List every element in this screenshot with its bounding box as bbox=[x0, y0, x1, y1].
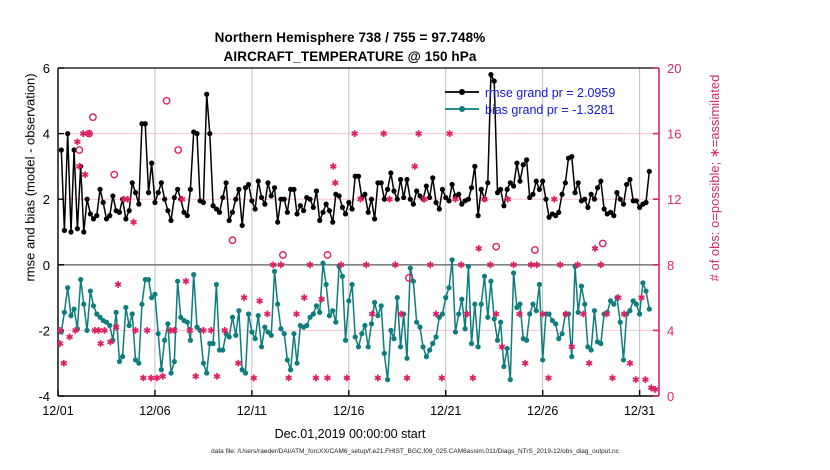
data-point bbox=[127, 323, 132, 328]
data-point bbox=[414, 320, 419, 325]
data-point bbox=[117, 359, 122, 364]
data-point bbox=[440, 187, 445, 192]
chart-page: Northern Hemisphere 738 / 755 = 97.748% … bbox=[0, 0, 830, 470]
data-point bbox=[127, 208, 132, 213]
data-point bbox=[311, 205, 316, 210]
data-point bbox=[282, 197, 287, 202]
legend-marker-0 bbox=[459, 89, 465, 95]
data-point bbox=[75, 226, 80, 231]
y-tick-label-left: 2 bbox=[43, 192, 50, 207]
data-point bbox=[317, 310, 322, 315]
data-point bbox=[466, 197, 471, 202]
data-point bbox=[618, 320, 623, 325]
data-point bbox=[495, 338, 500, 343]
data-point bbox=[343, 211, 348, 216]
data-point bbox=[456, 311, 461, 316]
data-point bbox=[165, 321, 170, 326]
data-point bbox=[366, 344, 371, 349]
data-point bbox=[236, 187, 241, 192]
data-point bbox=[265, 180, 270, 185]
data-point bbox=[391, 336, 396, 341]
data-point bbox=[614, 190, 619, 195]
data-point bbox=[476, 344, 481, 349]
data-point bbox=[353, 334, 358, 339]
data-point bbox=[165, 208, 170, 213]
data-point bbox=[482, 274, 487, 279]
y-tick-label-right: 20 bbox=[667, 61, 681, 76]
y-tick-label-right: 4 bbox=[667, 323, 674, 338]
data-point bbox=[230, 315, 235, 320]
data-point bbox=[572, 190, 577, 195]
data-point bbox=[424, 354, 429, 359]
data-point bbox=[511, 183, 516, 188]
data-point bbox=[346, 298, 351, 303]
data-point bbox=[227, 334, 232, 339]
data-point bbox=[530, 192, 535, 197]
x-tick-label: 12/21 bbox=[430, 404, 461, 418]
data-point bbox=[350, 206, 355, 211]
data-point bbox=[424, 183, 429, 188]
data-point bbox=[498, 187, 503, 192]
data-point bbox=[220, 195, 225, 200]
data-point bbox=[411, 202, 416, 207]
data-point bbox=[133, 190, 138, 195]
data-point bbox=[488, 72, 493, 77]
data-point bbox=[175, 187, 180, 192]
y-tick-label-right: 8 bbox=[667, 258, 674, 273]
data-point bbox=[294, 361, 299, 366]
data-point bbox=[136, 361, 141, 366]
data-point bbox=[582, 302, 587, 307]
data-point bbox=[146, 190, 151, 195]
data-point bbox=[602, 206, 607, 211]
data-point bbox=[201, 361, 206, 366]
data-point bbox=[62, 310, 67, 315]
data-point bbox=[233, 197, 238, 202]
data-point bbox=[298, 203, 303, 208]
data-point bbox=[162, 197, 167, 202]
data-point bbox=[285, 357, 290, 362]
data-point bbox=[343, 338, 348, 343]
data-point bbox=[275, 220, 280, 225]
data-point bbox=[501, 203, 506, 208]
data-point bbox=[540, 179, 545, 184]
obs-assimilated-marker bbox=[627, 360, 633, 367]
data-point bbox=[459, 297, 464, 302]
data-point bbox=[443, 295, 448, 300]
data-point bbox=[333, 320, 338, 325]
data-point bbox=[589, 192, 594, 197]
data-point bbox=[97, 187, 102, 192]
obs-assimilated-marker bbox=[301, 294, 307, 301]
data-point bbox=[375, 313, 380, 318]
data-point bbox=[440, 311, 445, 316]
data-point bbox=[269, 333, 274, 338]
obs-possible-marker bbox=[406, 275, 412, 281]
data-point bbox=[476, 213, 481, 218]
plot-canvas: -4-2024604812162012/0112/0612/1112/1612/… bbox=[0, 0, 830, 470]
data-point bbox=[521, 162, 526, 167]
data-point bbox=[404, 177, 409, 182]
obs-assimilated-marker bbox=[67, 334, 73, 341]
data-point bbox=[230, 210, 235, 215]
data-point bbox=[408, 197, 413, 202]
obs-assimilated-marker bbox=[332, 179, 338, 186]
obs-possible-marker bbox=[229, 237, 235, 243]
data-point bbox=[340, 205, 345, 210]
data-point bbox=[253, 336, 258, 341]
data-point bbox=[143, 121, 148, 126]
y-tick-label-right: 12 bbox=[667, 192, 681, 207]
data-point bbox=[84, 328, 89, 333]
data-point bbox=[272, 185, 277, 190]
data-point bbox=[517, 179, 522, 184]
x-tick-label: 12/11 bbox=[237, 404, 267, 418]
legend-marker-1 bbox=[459, 106, 465, 112]
data-point bbox=[120, 354, 125, 359]
data-point bbox=[356, 344, 361, 349]
obs-assimilated-marker bbox=[74, 138, 80, 145]
data-point bbox=[537, 282, 542, 287]
data-point bbox=[627, 308, 632, 313]
obs-assimilated-marker bbox=[160, 373, 166, 380]
data-point bbox=[256, 313, 261, 318]
y-tick-label-left: -4 bbox=[38, 389, 50, 404]
data-point bbox=[123, 216, 128, 221]
data-point bbox=[168, 370, 173, 375]
data-point bbox=[223, 180, 228, 185]
data-point bbox=[162, 338, 167, 343]
obs-assimilated-marker bbox=[61, 360, 67, 367]
legend-label-0: rmse grand pr = 2.0959 bbox=[485, 86, 615, 100]
data-point bbox=[537, 187, 542, 192]
data-point bbox=[369, 321, 374, 326]
data-point bbox=[81, 229, 86, 234]
data-point bbox=[185, 213, 190, 218]
data-point bbox=[372, 216, 377, 221]
data-point bbox=[589, 347, 594, 352]
obs-assimilated-marker bbox=[592, 245, 598, 252]
data-point bbox=[294, 211, 299, 216]
obs-assimilated-marker bbox=[183, 278, 189, 285]
obs-assimilated-marker bbox=[193, 373, 199, 380]
data-point bbox=[563, 180, 568, 185]
obs-possible-marker bbox=[76, 147, 82, 153]
data-point bbox=[417, 325, 422, 330]
data-point bbox=[395, 295, 400, 300]
data-point bbox=[246, 311, 251, 316]
x-tick-label: 12/31 bbox=[624, 404, 655, 418]
data-point bbox=[307, 197, 312, 202]
data-point bbox=[585, 205, 590, 210]
data-point bbox=[117, 210, 122, 215]
data-point bbox=[469, 185, 474, 190]
data-point bbox=[643, 288, 648, 293]
data-point bbox=[269, 193, 274, 198]
data-point bbox=[517, 302, 522, 307]
obs-assimilated-marker bbox=[375, 375, 381, 382]
data-point bbox=[472, 302, 477, 307]
data-point bbox=[156, 190, 161, 195]
data-point bbox=[582, 197, 587, 202]
data-point bbox=[249, 329, 254, 334]
data-point bbox=[256, 179, 261, 184]
data-point bbox=[479, 187, 484, 192]
obs-possible-marker bbox=[90, 114, 96, 120]
data-point bbox=[246, 182, 251, 187]
data-point bbox=[398, 344, 403, 349]
data-point bbox=[501, 364, 506, 369]
data-point bbox=[188, 338, 193, 343]
obs-assimilated-marker bbox=[499, 343, 505, 350]
data-point bbox=[556, 336, 561, 341]
data-point bbox=[621, 357, 626, 362]
obs-assimilated-marker bbox=[464, 311, 470, 318]
data-point bbox=[595, 185, 600, 190]
data-point bbox=[188, 187, 193, 192]
data-point bbox=[88, 288, 93, 293]
data-point bbox=[88, 211, 93, 216]
obs-assimilated-marker bbox=[522, 360, 528, 367]
data-point bbox=[262, 325, 267, 330]
data-point bbox=[320, 210, 325, 215]
y-tick-label-right: 0 bbox=[667, 389, 674, 404]
data-point bbox=[340, 274, 345, 279]
x-tick-label: 12/06 bbox=[139, 404, 170, 418]
obs-assimilated-marker bbox=[546, 375, 552, 382]
data-point bbox=[647, 169, 652, 174]
data-point bbox=[437, 206, 442, 211]
data-point bbox=[391, 188, 396, 193]
data-point bbox=[404, 356, 409, 361]
data-point bbox=[559, 192, 564, 197]
data-point bbox=[136, 202, 141, 207]
data-point bbox=[304, 323, 309, 328]
data-point bbox=[282, 331, 287, 336]
obs-assimilated-marker bbox=[610, 375, 616, 382]
data-point bbox=[534, 179, 539, 184]
data-point bbox=[508, 377, 513, 382]
data-point bbox=[359, 331, 364, 336]
obs-assimilated-marker bbox=[264, 311, 270, 318]
data-point bbox=[530, 302, 535, 307]
obs-assimilated-marker bbox=[115, 281, 121, 288]
data-point bbox=[259, 344, 264, 349]
data-point bbox=[65, 131, 70, 136]
data-point bbox=[330, 308, 335, 313]
data-point bbox=[618, 197, 623, 202]
data-point bbox=[175, 279, 180, 284]
data-point bbox=[130, 311, 135, 316]
data-point bbox=[346, 200, 351, 205]
y-tick-label-left: -2 bbox=[38, 323, 50, 338]
data-point bbox=[130, 180, 135, 185]
data-point bbox=[317, 218, 322, 223]
data-point bbox=[152, 200, 157, 205]
obs-possible-marker bbox=[600, 240, 606, 246]
data-point bbox=[285, 210, 290, 215]
obs-assimilated-marker bbox=[294, 311, 300, 318]
data-point bbox=[627, 177, 632, 182]
data-point bbox=[210, 341, 215, 346]
obs-possible-marker bbox=[111, 171, 117, 177]
data-point bbox=[152, 292, 157, 297]
data-point bbox=[123, 305, 128, 310]
data-point bbox=[259, 195, 264, 200]
x-tick-label: 12/01 bbox=[42, 404, 73, 418]
data-point bbox=[159, 367, 164, 372]
data-point bbox=[311, 311, 316, 316]
data-point bbox=[243, 370, 248, 375]
data-point bbox=[233, 333, 238, 338]
obs-assimilated-marker bbox=[404, 375, 410, 382]
series-filled-circle-left bbox=[59, 257, 652, 382]
data-point bbox=[647, 306, 652, 311]
data-point bbox=[204, 370, 209, 375]
data-point bbox=[559, 331, 564, 336]
data-point bbox=[469, 341, 474, 346]
data-point bbox=[350, 282, 355, 287]
data-point bbox=[94, 213, 99, 218]
data-point bbox=[579, 284, 584, 289]
data-point bbox=[543, 197, 548, 202]
data-point bbox=[139, 302, 144, 307]
data-point bbox=[385, 187, 390, 192]
data-point bbox=[172, 359, 177, 364]
y-tick-label-left: 6 bbox=[43, 61, 50, 76]
data-point bbox=[71, 306, 76, 311]
data-point bbox=[201, 200, 206, 205]
data-point bbox=[68, 313, 73, 318]
data-point bbox=[488, 279, 493, 284]
obs-assimilated-marker bbox=[412, 163, 418, 170]
data-point bbox=[327, 208, 332, 213]
data-point bbox=[505, 187, 510, 192]
x-tick-label: 12/16 bbox=[333, 404, 364, 418]
data-point bbox=[398, 177, 403, 182]
obs-possible-marker bbox=[493, 244, 499, 250]
data-point bbox=[107, 323, 112, 328]
data-point bbox=[362, 323, 367, 328]
data-point bbox=[456, 192, 461, 197]
data-point bbox=[146, 277, 151, 282]
data-point bbox=[643, 200, 648, 205]
obs-assimilated-marker bbox=[470, 375, 476, 382]
data-point bbox=[253, 206, 258, 211]
data-point bbox=[598, 341, 603, 346]
data-point bbox=[414, 188, 419, 193]
y-tick-label-left: 4 bbox=[43, 127, 50, 142]
data-point bbox=[68, 229, 73, 234]
data-point bbox=[634, 198, 639, 203]
data-point bbox=[330, 220, 335, 225]
data-point bbox=[453, 329, 458, 334]
data-point bbox=[450, 257, 455, 262]
data-point bbox=[621, 202, 626, 207]
data-point bbox=[395, 197, 400, 202]
obs-assimilated-marker bbox=[319, 296, 325, 303]
data-point bbox=[446, 198, 451, 203]
data-point bbox=[463, 326, 468, 331]
data-point bbox=[388, 328, 393, 333]
data-point bbox=[430, 341, 435, 346]
obs-assimilated-marker bbox=[439, 375, 445, 382]
data-point bbox=[185, 320, 190, 325]
data-point bbox=[450, 182, 455, 187]
data-point bbox=[401, 195, 406, 200]
obs-assimilated-marker bbox=[148, 375, 154, 382]
data-point bbox=[485, 180, 490, 185]
data-point bbox=[511, 270, 516, 275]
data-point bbox=[114, 310, 119, 315]
obs-assimilated-marker bbox=[330, 163, 336, 170]
obs-assimilated-marker bbox=[131, 219, 137, 226]
data-point bbox=[324, 202, 329, 207]
obs-assimilated-marker bbox=[369, 311, 375, 318]
data-point bbox=[634, 302, 639, 307]
obs-assimilated-marker bbox=[642, 376, 648, 383]
data-point bbox=[101, 200, 106, 205]
data-point bbox=[524, 157, 529, 162]
data-point bbox=[191, 272, 196, 277]
data-point bbox=[84, 197, 89, 202]
data-point bbox=[159, 180, 164, 185]
data-point bbox=[91, 303, 96, 308]
obs-assimilated-marker bbox=[569, 343, 575, 350]
data-point bbox=[408, 265, 413, 270]
data-point bbox=[553, 321, 558, 326]
data-point bbox=[527, 311, 532, 316]
data-point bbox=[372, 300, 377, 305]
data-point bbox=[107, 213, 112, 218]
data-point bbox=[369, 197, 374, 202]
obs-assimilated-marker bbox=[214, 373, 220, 380]
series-open-circle-right bbox=[76, 98, 606, 282]
data-point bbox=[62, 228, 67, 233]
data-point bbox=[110, 193, 115, 198]
obs-possible-marker bbox=[163, 98, 169, 104]
data-point bbox=[220, 347, 225, 352]
data-point bbox=[430, 175, 435, 180]
data-point bbox=[472, 164, 477, 169]
obs-assimilated-marker bbox=[633, 376, 639, 383]
obs-assimilated-marker bbox=[257, 297, 263, 304]
data-point bbox=[275, 302, 280, 307]
data-point bbox=[640, 280, 645, 285]
data-point bbox=[314, 188, 319, 193]
y-tick-label-left: 0 bbox=[43, 258, 50, 273]
data-point bbox=[214, 282, 219, 287]
obs-assimilated-marker bbox=[235, 360, 241, 367]
data-point bbox=[366, 210, 371, 215]
data-point bbox=[320, 261, 325, 266]
data-point bbox=[291, 187, 296, 192]
data-point bbox=[356, 174, 361, 179]
obs-assimilated-marker bbox=[82, 171, 88, 178]
data-point bbox=[569, 154, 574, 159]
data-point bbox=[382, 197, 387, 202]
data-point bbox=[385, 377, 390, 382]
data-point bbox=[514, 161, 519, 166]
data-point bbox=[156, 331, 161, 336]
data-point bbox=[59, 147, 64, 152]
data-point bbox=[524, 338, 529, 343]
obs-possible-marker bbox=[324, 252, 330, 258]
data-point bbox=[227, 218, 232, 223]
data-point bbox=[433, 334, 438, 339]
data-point bbox=[420, 344, 425, 349]
data-point bbox=[556, 210, 561, 215]
